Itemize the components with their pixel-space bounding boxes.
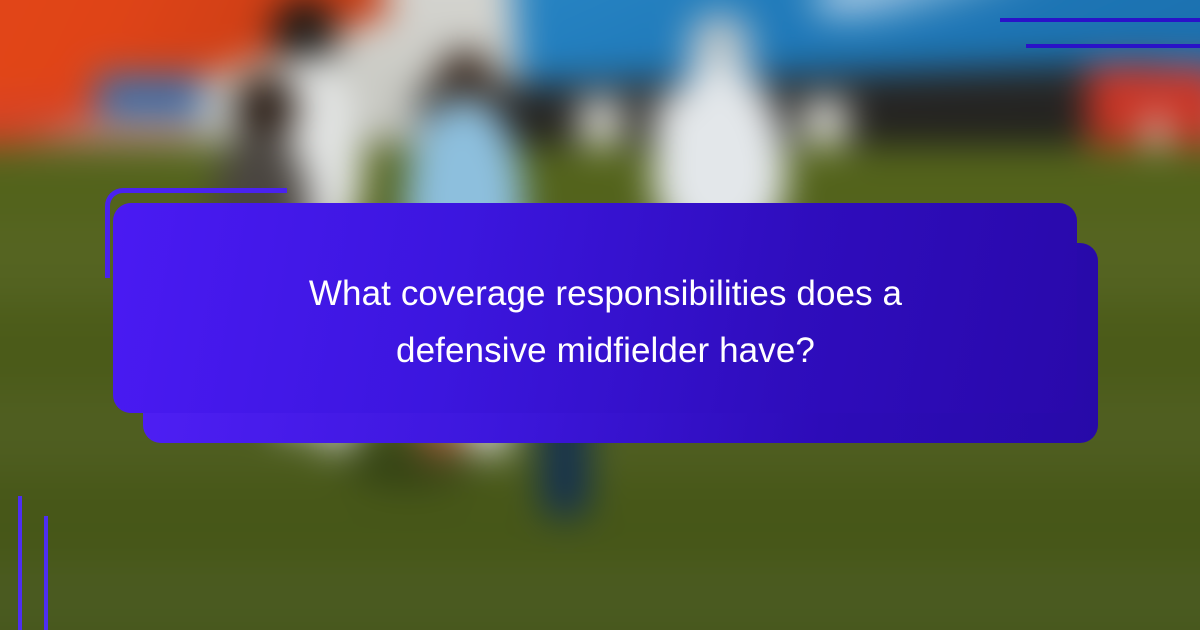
question-text: What coverage responsibilities does a de…	[256, 266, 956, 379]
small-blue-board	[97, 74, 203, 119]
corner-bracket-bottom-left	[44, 516, 226, 630]
grass-shadow	[346, 437, 473, 488]
poster-canvas: What coverage responsibilities does a de…	[0, 0, 1200, 630]
corner-bracket-top-right	[1026, 44, 1200, 174]
question-card-text-area: What coverage responsibilities does a de…	[113, 203, 1098, 443]
